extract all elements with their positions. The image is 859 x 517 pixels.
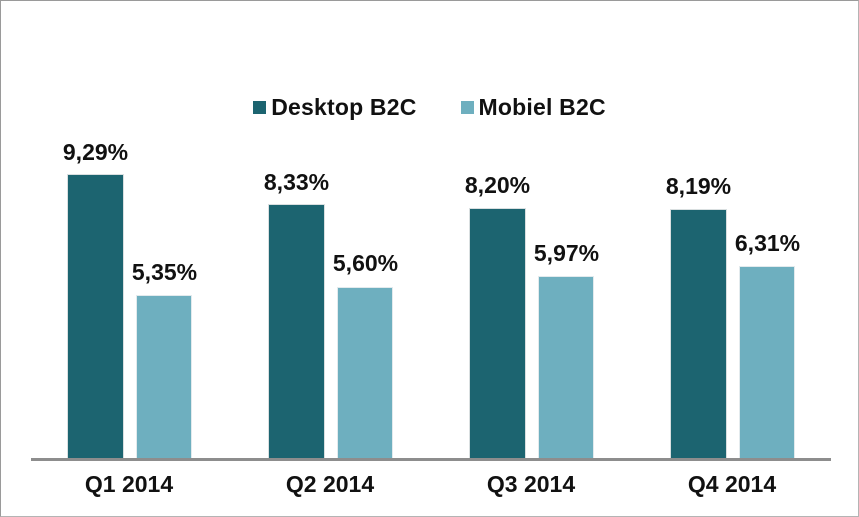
data-label-desktop-b2c-q1-2014: 9,29% — [45, 141, 146, 164]
legend-label-mobiel-b2c: Mobiel B2C — [479, 96, 606, 119]
data-label-desktop-b2c-q2-2014: 8,33% — [246, 171, 347, 194]
legend-label-desktop-b2c: Desktop B2C — [271, 96, 416, 119]
bar-mobiel-b2c-q2-2014[interactable] — [337, 287, 393, 459]
x-axis-baseline — [31, 458, 831, 461]
data-label-mobiel-b2c-q3-2014: 5,97% — [516, 242, 617, 265]
legend-entry-mobiel-b2c[interactable]: Mobiel B2C — [461, 96, 606, 119]
category-label-q4-2014: Q4 2014 — [662, 473, 802, 496]
category-label-q2-2014: Q2 2014 — [260, 473, 400, 496]
bar-desktop-b2c-q1-2014[interactable] — [67, 174, 124, 459]
data-label-mobiel-b2c-q2-2014: 5,60% — [315, 252, 416, 275]
category-label-q1-2014: Q1 2014 — [59, 473, 199, 496]
chart-plot-area: Desktop B2C Mobiel B2C 9,29% 5,35% Q1 20… — [1, 1, 858, 516]
chart-legend: Desktop B2C Mobiel B2C — [1, 93, 858, 121]
legend-swatch-icon-desktop-b2c — [253, 101, 266, 114]
data-label-desktop-b2c-q3-2014: 8,20% — [447, 174, 548, 197]
chart-figure: Desktop B2C Mobiel B2C 9,29% 5,35% Q1 20… — [0, 0, 859, 517]
bar-mobiel-b2c-q3-2014[interactable] — [538, 276, 594, 459]
bar-desktop-b2c-q2-2014[interactable] — [268, 204, 325, 459]
bar-mobiel-b2c-q1-2014[interactable] — [136, 295, 192, 459]
data-label-desktop-b2c-q4-2014: 8,19% — [648, 175, 749, 198]
category-label-q3-2014: Q3 2014 — [461, 473, 601, 496]
data-label-mobiel-b2c-q1-2014: 5,35% — [114, 261, 215, 284]
legend-swatch-icon-mobiel-b2c — [461, 101, 474, 114]
data-label-mobiel-b2c-q4-2014: 6,31% — [717, 232, 818, 255]
legend-entry-desktop-b2c[interactable]: Desktop B2C — [253, 96, 416, 119]
bar-mobiel-b2c-q4-2014[interactable] — [739, 266, 795, 459]
